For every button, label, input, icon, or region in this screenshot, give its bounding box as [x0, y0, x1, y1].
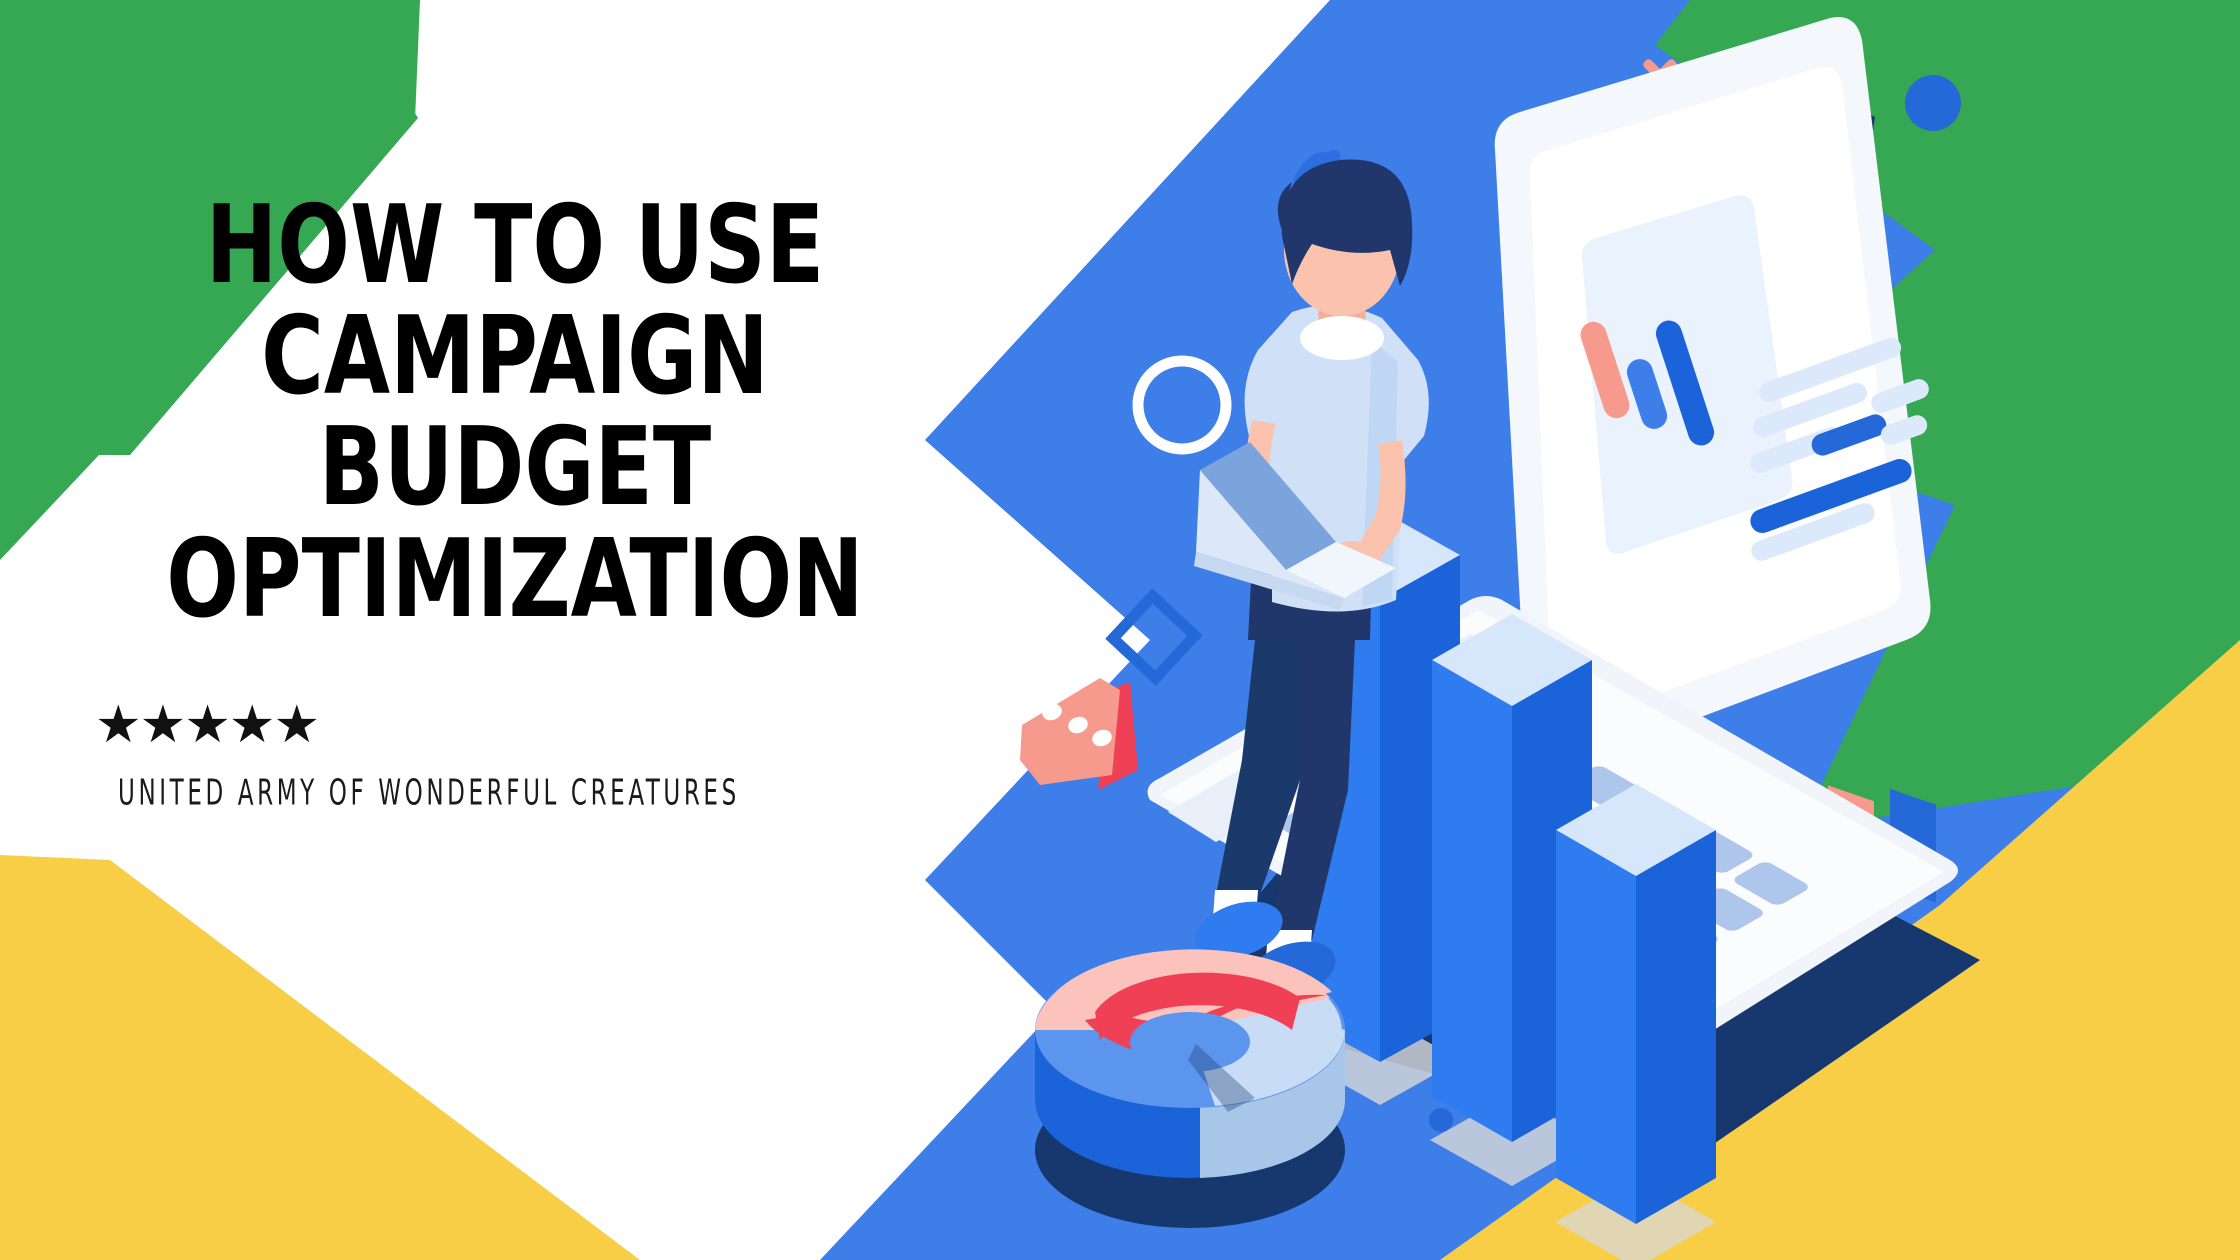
decor-diamond-outline [1113, 596, 1195, 678]
pie-inner-hole [1130, 1012, 1250, 1072]
decor-dot-corner [1905, 75, 1961, 131]
poster-canvas: HOW TO USE CAMPAIGN BUDGET OPTIMIZATION … [0, 0, 2240, 1260]
star-rating-icon: ★★★★★ [95, 699, 920, 751]
decor-dot [1429, 1108, 1453, 1132]
decor-circle-outline [1138, 361, 1226, 449]
pie-chart-3d [1035, 949, 1345, 1228]
bar-3 [1556, 784, 1716, 1224]
text-block: HOW TO USE CAMPAIGN BUDGET OPTIMIZATION … [110, 190, 920, 811]
rating-row: ★★★★★ UNITED ARMY OF WONDERFUL CREATURES [100, 699, 920, 811]
chat-bubble-pink [1020, 678, 1138, 790]
page-title: HOW TO USE CAMPAIGN BUDGET OPTIMIZATION [159, 190, 872, 635]
subtitle: UNITED ARMY OF WONDERFUL CREATURES [118, 771, 760, 814]
